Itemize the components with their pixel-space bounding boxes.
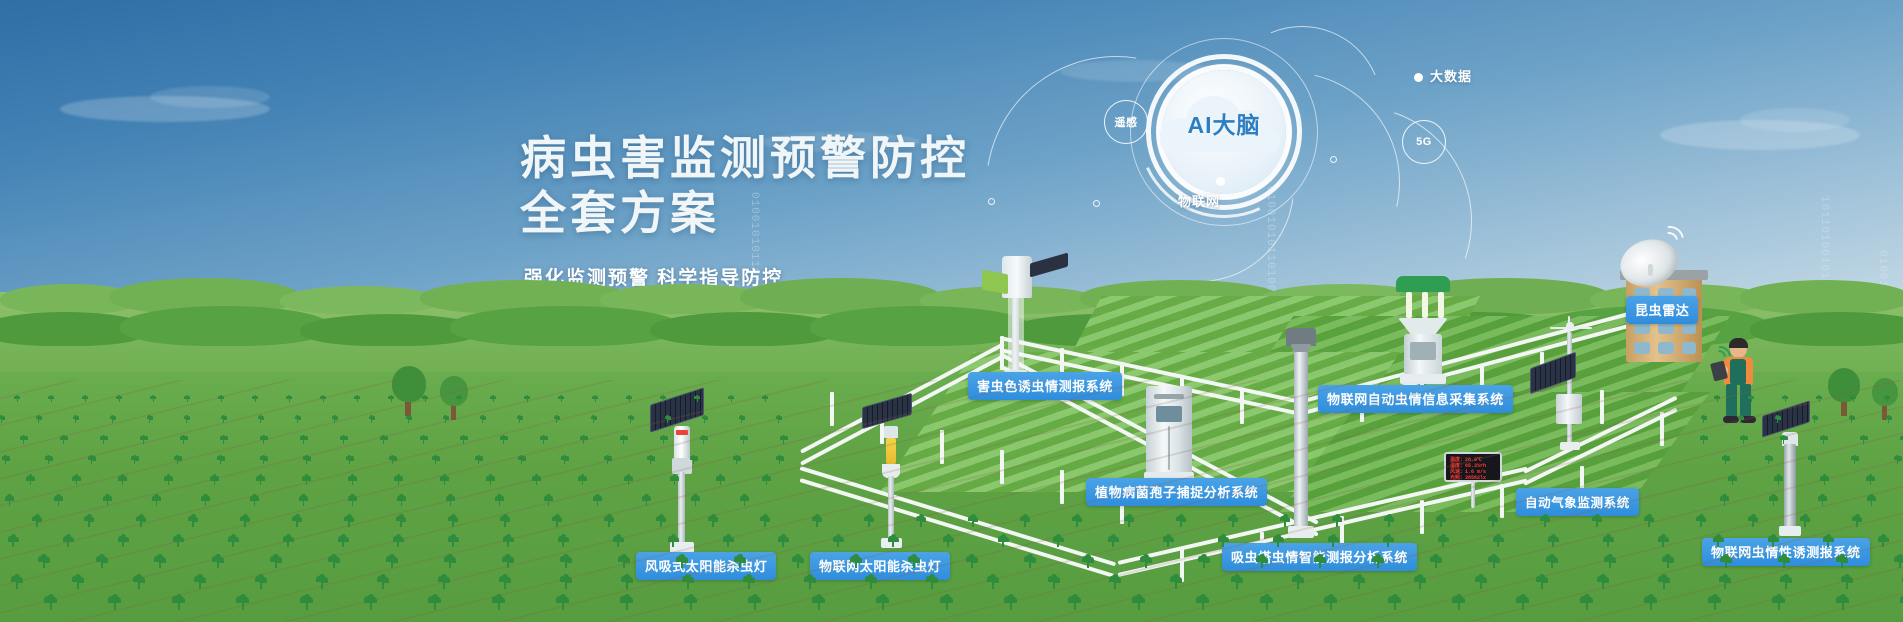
crop-plant [592,396,598,402]
crop-plant [152,496,162,506]
crop-plant [422,396,428,402]
crop-plant [354,396,360,402]
crop-plant [88,456,96,464]
crop-plant [448,536,459,547]
crop-plant [1231,576,1244,589]
crop-plant [364,596,378,610]
crop-plant [1720,496,1730,506]
crop-plant [1024,556,1036,568]
crop-plant [380,436,388,444]
crop-plant [346,456,354,464]
crop-plant [110,416,117,423]
crop-plant [1580,596,1594,610]
crop-plant [1778,556,1790,568]
crop-plant [691,496,701,506]
crop-plant [1860,436,1868,444]
crop-plant [38,556,50,568]
crop-plant [1493,536,1504,547]
crop-plant [540,436,548,444]
crop-plant [11,576,24,589]
crop-plant [1714,396,1720,402]
crop-plant [133,576,146,589]
crop-plant [1488,556,1500,568]
crop-plant [1769,496,1779,506]
crop-plant [397,496,407,506]
crop-plant [348,496,358,506]
crop-plant [456,396,462,402]
crop-plant [1768,536,1779,547]
crop-plant [188,516,199,527]
crop-plant [256,476,265,485]
crop-plant [486,476,495,485]
crop-plant [743,576,756,589]
crop-plant [1696,516,1707,527]
crop-plant [833,536,844,547]
crop-plant [1850,396,1856,402]
crop-plant [1800,516,1811,527]
crop-plant [303,456,311,464]
crop-plant [258,416,265,423]
crop-plant [1438,536,1449,547]
crop-plant [812,596,826,610]
crop-plant [172,596,186,610]
crop-plant [1170,576,1183,589]
crop-plant [908,556,920,568]
crop-plant [1894,556,1903,568]
crop-plant [300,596,314,610]
crop-plant [396,516,407,527]
crop-plant [1728,476,1737,485]
crop-plant [444,556,456,568]
crop-plant [560,556,572,568]
crop-plant [8,536,19,547]
crop-plant [1273,536,1284,547]
crop-plant [147,416,154,423]
crop-plant [388,396,394,402]
crop-plant [377,576,390,589]
crop-plant [236,596,250,610]
crop-plant [1820,476,1829,485]
crop-plant [1540,516,1551,527]
crop-plant [1452,596,1466,610]
crop-plant [968,516,979,527]
crop-plant [44,596,58,610]
device-iot-auto-pest-collect[interactable] [1386,276,1462,388]
crop-plant [1658,576,1671,589]
crop-plant [864,516,875,527]
crop-plant [340,436,348,444]
crop-plant [1662,556,1674,568]
crop-plant [1713,536,1724,547]
crop-plant [604,456,612,464]
crop-plant [1108,536,1119,547]
crop-plant [443,416,450,423]
crop-plant [1597,576,1610,589]
crop-plant [778,536,789,547]
crop-plant [495,496,505,506]
crop-plant [1644,596,1658,610]
crop-plant [1546,556,1558,568]
crop-plant [48,396,54,402]
crop-plant [84,516,95,527]
crop-plant [1004,596,1018,610]
crop-plant [558,396,564,402]
crop-plant [578,476,587,485]
crop-plant [916,516,927,527]
crop-plant [665,416,672,423]
crop-plant [194,576,207,589]
crop-plant [72,476,81,485]
crop-plant [780,436,788,444]
crop-plant [26,476,35,485]
crop-plant [448,516,459,527]
crop-plant [302,476,311,485]
crop-plant [1228,516,1239,527]
crop-plant [1818,496,1828,506]
crop-plant [876,596,890,610]
crop-plant [1884,396,1890,402]
crop-plant [348,476,357,485]
crop-plant [739,416,746,423]
crop-plant [1488,516,1499,527]
crop-plant [150,396,156,402]
crop-plant [1894,456,1902,464]
crop-plant [1176,516,1187,527]
crop-plant [1053,536,1064,547]
crop-plant [446,496,456,506]
crop-plant [1782,396,1788,402]
crop-plant [544,496,554,506]
crop-plant [140,436,148,444]
crop-plant [201,496,211,506]
crop-plant [420,436,428,444]
crop-plant [556,596,570,610]
crop-plant [1836,556,1848,568]
crop-plant [558,536,569,547]
crop-plant [1775,416,1782,423]
crop-plant [734,556,746,568]
crop-plant [1765,456,1773,464]
crop-plant [987,576,1000,589]
crop-plant [1720,556,1732,568]
dish-mount [1648,264,1653,276]
crop-plant [73,416,80,423]
crop-plant [502,556,514,568]
crop-plant [620,436,628,444]
crop-plant [386,556,398,568]
crop-plant [694,396,700,402]
crop-plant [1109,576,1122,589]
crop-plant [613,536,624,547]
crop-plant [1020,516,1031,527]
crop-plant [394,476,403,485]
crop-plant [1384,516,1395,527]
crop-plant [702,416,709,423]
crop-plant [812,516,823,527]
crop-plant [45,456,53,464]
crop-plant [1701,416,1708,423]
crop-plant [1292,576,1305,589]
crop-plant [554,416,561,423]
crop-plant [690,456,698,464]
crop-plant [212,556,224,568]
crop-plant [1719,576,1732,589]
crop-plant [1708,596,1722,610]
crop-plant [642,496,652,506]
hero-banner: 病虫害监测预警防控 全套方案 强化监测预警 科学指导防控 AI大脑 遥感 [0,0,1903,622]
crop-plant [1774,476,1783,485]
crop-plant [210,476,219,485]
crop-plant [54,496,64,506]
crop-plant [1082,556,1094,568]
crop-plant [1256,556,1268,568]
crop-plant [1780,436,1788,444]
crop-plant [1048,576,1061,589]
crop-plant [560,576,573,589]
crop-plant [1772,596,1786,610]
device-solar-panel [1030,253,1068,278]
crop-plant [283,536,294,547]
crop-plant [940,596,954,610]
device-panel-door [1410,342,1436,360]
crop-plant [700,436,708,444]
crop-plant [926,576,939,589]
device-lure-tray [982,270,1008,295]
radar-building-window [1682,342,1696,354]
crop-plant [1328,536,1339,547]
crop-plant [682,576,695,589]
crop-plant [492,596,506,610]
crop-plant [1324,596,1338,610]
crop-plant [499,576,512,589]
crop-plant [1196,596,1210,610]
crop-plant [292,516,303,527]
crop-plant [218,396,224,402]
crop-plant [1430,556,1442,568]
radar-building-window [1658,342,1674,354]
crop-plant [480,416,487,423]
crop-plant [1383,536,1394,547]
crop-plant [1314,556,1326,568]
crop-plant [1722,456,1730,464]
crop-plant [393,536,404,547]
crop-plant [1852,516,1863,527]
crop-plant [1260,596,1274,610]
crop-plant [1658,536,1669,547]
crop-plant [762,396,768,402]
crop-plant [240,516,251,527]
crop-plant [338,536,349,547]
crop-plant [428,596,442,610]
crop-plant [20,436,28,444]
crop-plant [180,436,188,444]
crop-plant [328,556,340,568]
crop-plant [1849,416,1856,423]
crop-plant [184,396,190,402]
crop-plant [620,596,634,610]
crop-plant [164,476,173,485]
worker-hair [1729,338,1748,348]
crop-plant [432,456,440,464]
crop-plant [490,396,496,402]
crop-plant [792,556,804,568]
crop-plant [32,516,43,527]
crop-plant [593,496,603,506]
crop-plant [776,456,784,464]
crop-plant [776,416,783,423]
crop-plant [1603,536,1614,547]
crop-row-texture [0,380,1903,622]
crop-plant [723,536,734,547]
device-ladder [1008,294,1024,372]
crop-plant [82,396,88,402]
crop-plant [1516,596,1530,610]
crop-plant [656,516,667,527]
crop-plant [116,396,122,402]
crop-plant [96,556,108,568]
crop-plant [728,396,734,402]
crop-plant [1218,536,1229,547]
crop-plant [1867,496,1877,506]
crop-plant [532,476,541,485]
crop-plant [524,396,530,402]
crop-plant [1878,536,1889,547]
crop-plant [72,576,85,589]
crop-plant [1808,456,1816,464]
crop-plant [118,476,127,485]
crop-plant [628,416,635,423]
crop-plant [865,576,878,589]
crop-plant [299,496,309,506]
crop-plant [1072,516,1083,527]
crop-plant [1738,416,1745,423]
crop-plant [406,416,413,423]
crop-plant [684,596,698,610]
crop-plant [1886,416,1893,423]
crop-plant [1536,576,1549,589]
crop-plant [1280,516,1291,527]
crop-plant [1372,556,1384,568]
crop-plant [1068,596,1082,610]
crop-plant [460,436,468,444]
crop-plant [1851,456,1859,464]
crop-plant [503,536,514,547]
device-lamp-tube [1438,292,1444,318]
crop-plant [300,436,308,444]
crop-plant [1740,436,1748,444]
weather-vane-arm [1550,327,1592,329]
crop-plant [438,576,451,589]
crop-plant [1820,436,1828,444]
crop-plant [5,496,15,506]
crop-plant [676,556,688,568]
crop-plant [2,456,10,464]
crop-plant [250,496,260,506]
crop-plant [748,596,762,610]
crop-plant [621,576,634,589]
crop-plant [552,516,563,527]
crop-plant [708,516,719,527]
crop-plant [1812,416,1819,423]
crop-plant [1816,396,1822,402]
crop-plant [1866,476,1875,485]
crop-plant [1700,436,1708,444]
crop-plant [184,416,191,423]
crop-plant [221,416,228,423]
crop-plant [136,516,147,527]
crop-plant [1823,536,1834,547]
crop-plant [440,476,449,485]
crop-plant [740,436,748,444]
crop-plant [762,476,771,485]
crop-plant [220,436,228,444]
crop-plant [118,536,129,547]
crop-plant [604,516,615,527]
crop-plant [733,456,741,464]
crop-plant [998,536,1009,547]
crop-plant [518,456,526,464]
crop-plant [228,536,239,547]
crop-plant [320,396,326,402]
crop-plant [36,416,43,423]
crop-plant [60,436,68,444]
crop-plant [217,456,225,464]
crop-plant [389,456,397,464]
crop-plant [344,516,355,527]
crop-plant [888,536,899,547]
crop-plant [1548,536,1559,547]
crop-plant [1163,536,1174,547]
crop-plant [286,396,292,402]
crop-plant [63,536,74,547]
device-tower-head [1286,328,1316,346]
device-lamp-canopy [1396,276,1450,292]
crop-plant [647,456,655,464]
crop-plant [1414,576,1427,589]
crop-plant [103,496,113,506]
radar-building-window [1634,342,1650,354]
crop-plant [618,556,630,568]
crop-plant [260,456,268,464]
crop-plant [1836,596,1850,610]
crop-plant [1475,576,1488,589]
crop-plant [14,396,20,402]
crop-plant [500,516,511,527]
crop-plant [1748,396,1754,402]
crop-plant [1124,516,1135,527]
crop-plant [316,576,329,589]
crop-plant [591,416,598,423]
crop-plant [850,556,862,568]
crop-plant [173,536,184,547]
crop-plant [174,456,182,464]
crop-plant [500,436,508,444]
device-pest-color-lure[interactable] [982,254,1068,376]
crop-plant [740,496,750,506]
crop-plant [1841,576,1854,589]
crop-plant [626,396,632,402]
crop-plant [0,416,5,423]
crop-plant [580,436,588,444]
crop-plant [670,476,679,485]
crop-plant [943,536,954,547]
crop-plant [517,416,524,423]
crop-plant [475,456,483,464]
crop-plant [660,396,666,402]
crop-plant [260,436,268,444]
crop-plant [1780,576,1793,589]
crop-plant [131,456,139,464]
